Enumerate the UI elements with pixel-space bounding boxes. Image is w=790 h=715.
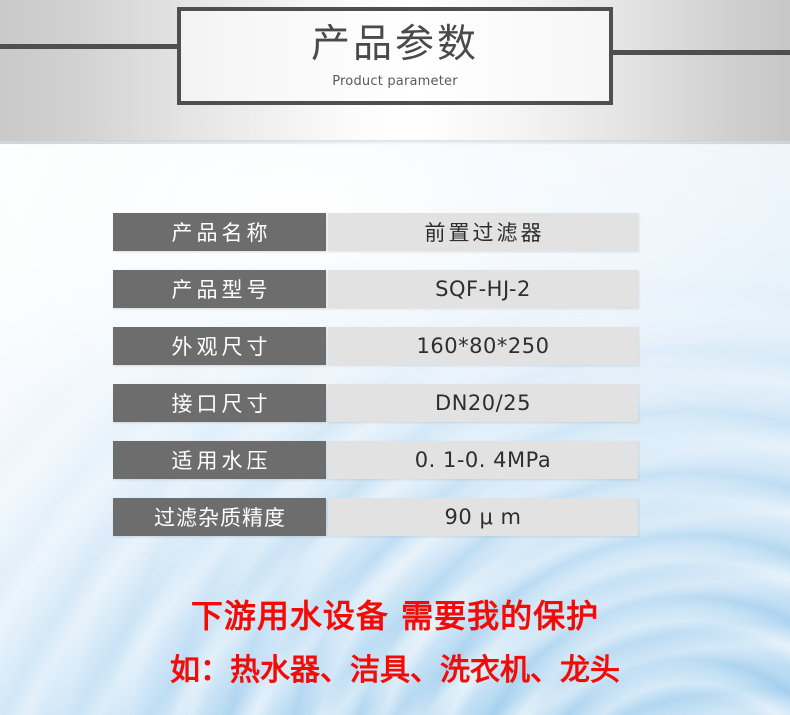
spec-value-dimensions: 160*80*250 (328, 327, 638, 365)
product-parameter-page: 产品参数 Product parameter 产品名称 前置过滤器 产品型号 S… (0, 0, 790, 715)
spec-label-dimensions: 外观尺寸 (113, 327, 326, 365)
promo-headline: 下游用水设备 需要我的保护 (0, 596, 790, 636)
header-rule-left (0, 44, 181, 49)
spec-value-water-pressure: 0. 1-0. 4MPa (328, 441, 638, 479)
spec-label-filter-precision: 过滤杂质精度 (113, 498, 326, 536)
spec-table: 产品名称 前置过滤器 产品型号 SQF-HJ-2 外观尺寸 160*80*250… (113, 213, 638, 536)
spec-value-product-name: 前置过滤器 (328, 213, 638, 251)
spec-value-product-model: SQF-HJ-2 (328, 270, 638, 308)
spec-value-interface-size: DN20/25 (328, 384, 638, 422)
spec-label-product-name: 产品名称 (113, 213, 326, 251)
table-row: 外观尺寸 160*80*250 (113, 327, 638, 365)
spec-value-filter-precision: 90 μ m (328, 498, 638, 536)
header-rule-right (609, 50, 790, 55)
spec-label-interface-size: 接口尺寸 (113, 384, 326, 422)
header-band-edge (0, 140, 790, 145)
table-row: 产品名称 前置过滤器 (113, 213, 638, 251)
table-row: 接口尺寸 DN20/25 (113, 384, 638, 422)
table-row: 适用水压 0. 1-0. 4MPa (113, 441, 638, 479)
spec-label-product-model: 产品型号 (113, 270, 326, 308)
page-subtitle: Product parameter (332, 74, 458, 90)
page-title-box: 产品参数 Product parameter (177, 7, 613, 105)
spec-label-water-pressure: 适用水压 (113, 441, 326, 479)
table-row: 过滤杂质精度 90 μ m (113, 498, 638, 536)
promo-subline: 如：热水器、洁具、洗衣机、龙头 (0, 652, 790, 690)
page-title: 产品参数 (311, 22, 479, 68)
table-row: 产品型号 SQF-HJ-2 (113, 270, 638, 308)
